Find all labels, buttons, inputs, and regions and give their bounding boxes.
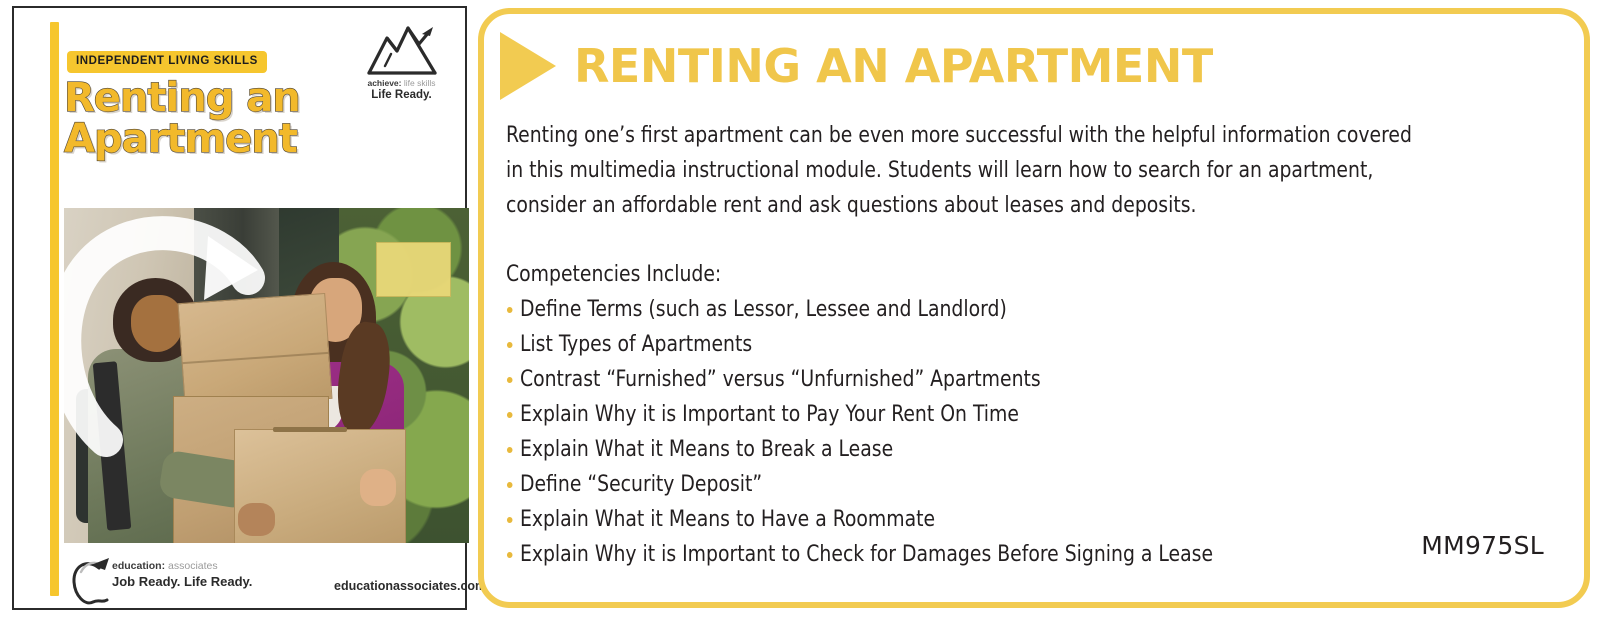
cover-accent-bar (50, 22, 59, 596)
achieve-brand-rest: life skills (402, 78, 436, 88)
product-sheet: INDEPENDENT LIVING SKILLS Renting an Apa… (0, 0, 1600, 634)
list-item: Explain What it Means to Have a Roommate (506, 502, 1490, 537)
panel-title: RENTING AN APARTMENT (574, 43, 1213, 89)
cover-title: Renting an Apartment (64, 78, 364, 160)
education-associates-logotype: education: associates Job Ready. Life Re… (112, 560, 252, 590)
list-item: Define Terms (such as Lessor, Lessee and… (506, 292, 1490, 327)
panel-header: RENTING AN APARTMENT (500, 32, 1213, 100)
mountain-arrow-icon (354, 24, 449, 76)
competencies-list: Define Terms (such as Lessor, Lessee and… (506, 292, 1564, 572)
panel-body: Renting one’s first apartment can be eve… (506, 118, 1564, 572)
achieve-logo: achieve: life skills Life Ready. (354, 24, 449, 102)
achieve-life-ready: Life Ready. (354, 89, 449, 103)
cover-title-line2: Apartment (64, 119, 364, 160)
cover-card: INDEPENDENT LIVING SKILLS Renting an Apa… (12, 6, 467, 610)
achieve-brand: achieve: (367, 78, 401, 88)
competencies-heading: Competencies Include: (506, 257, 1490, 292)
category-badge: INDEPENDENT LIVING SKILLS (67, 51, 267, 73)
play-triangle-icon (500, 32, 556, 100)
ea-brand-rest: associates (165, 560, 218, 572)
list-item: Explain Why it is Important to Pay Your … (506, 397, 1490, 432)
website-url: educationassociates.com (334, 579, 486, 593)
achieve-tagline: achieve: life skills (354, 78, 449, 89)
panel-paragraph: Renting one’s first apartment can be eve… (506, 118, 1422, 223)
description-panel: RENTING AN APARTMENT Renting one’s first… (478, 8, 1590, 608)
cover-photo-scene (64, 208, 469, 543)
product-code: MM975SL (1421, 531, 1544, 560)
list-item: Define “Security Deposit” (506, 467, 1490, 502)
list-item: Explain What it Means to Break a Lease (506, 432, 1490, 467)
ea-brand: education: (112, 560, 165, 572)
ea-tagline: Job Ready. Life Ready. (112, 574, 252, 590)
list-item: Contrast “Furnished” versus “Unfurnished… (506, 362, 1490, 397)
list-item: List Types of Apartments (506, 327, 1490, 362)
cover-photo (64, 208, 469, 543)
cover-title-line1: Renting an (64, 75, 300, 121)
list-item: Explain Why it is Important to Check for… (506, 537, 1490, 572)
